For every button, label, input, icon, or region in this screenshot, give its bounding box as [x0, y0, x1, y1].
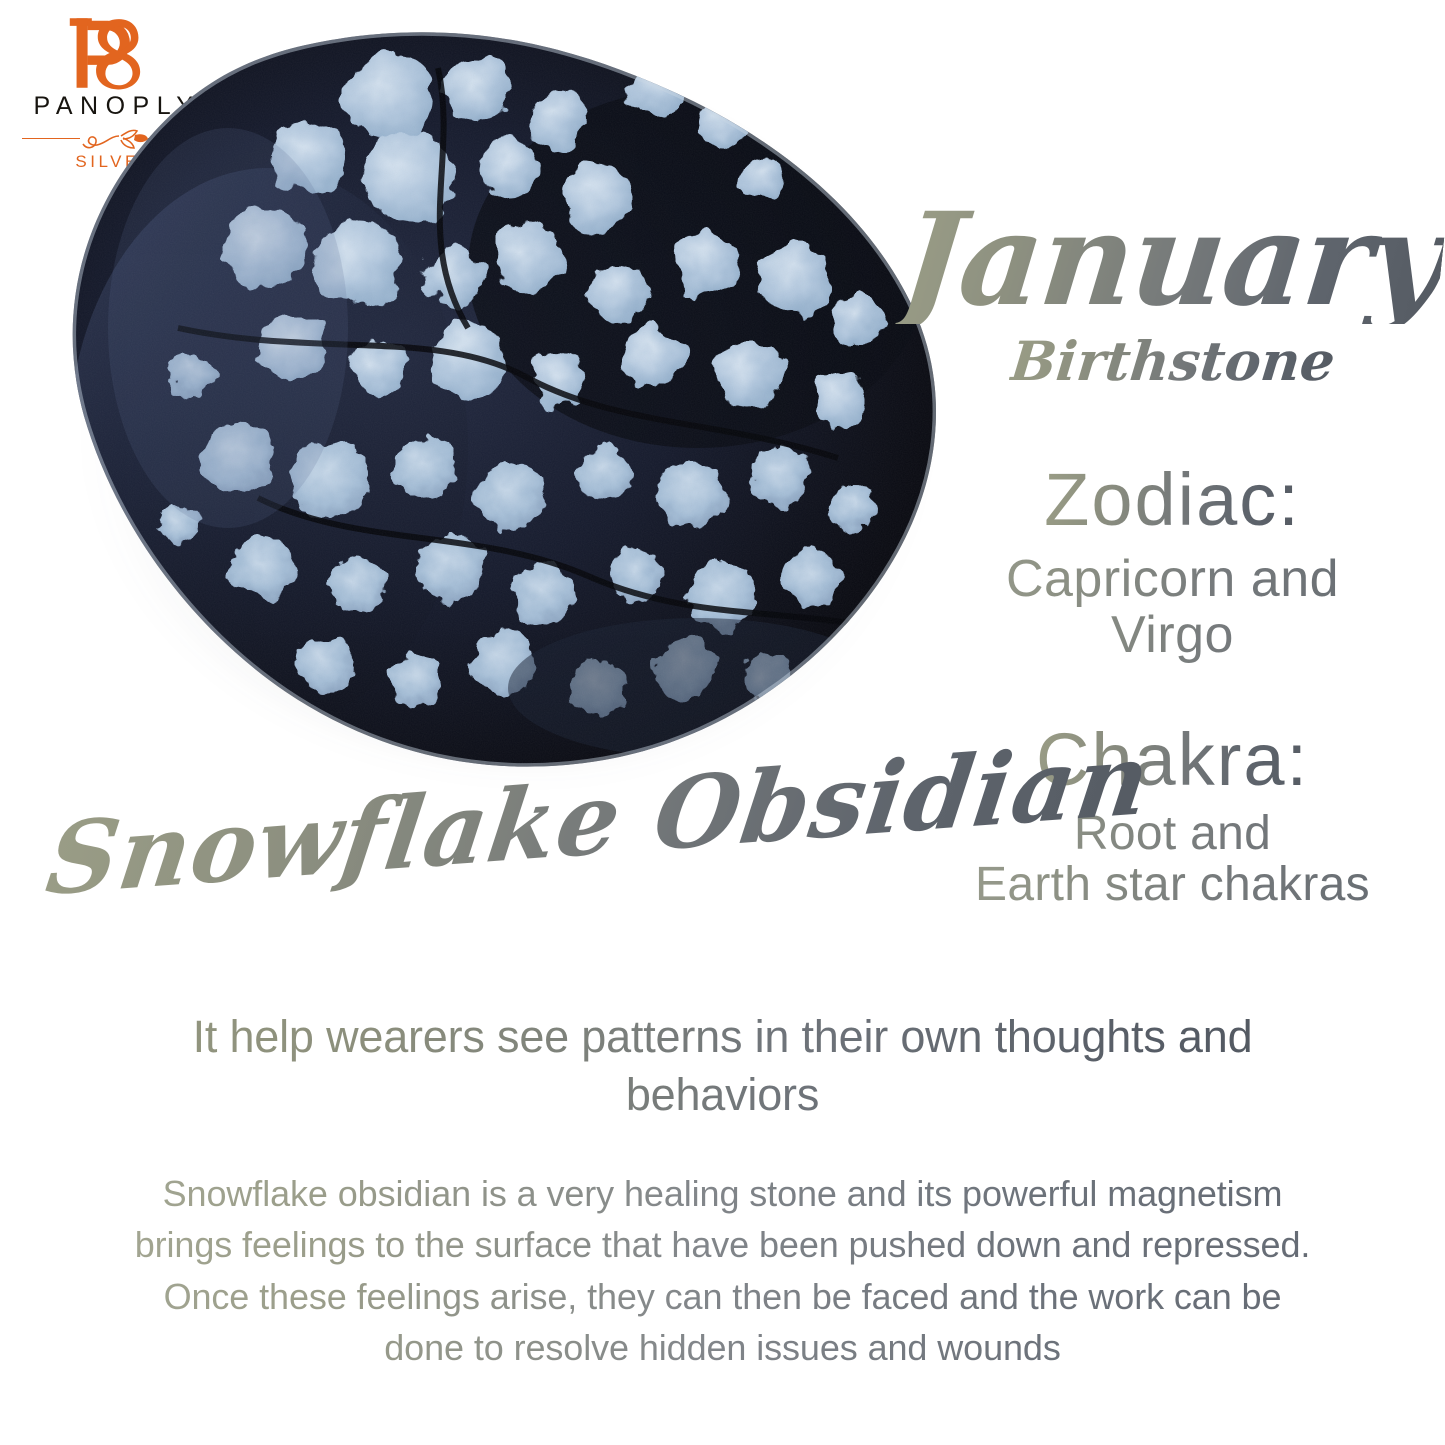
- chakra-value-line-2: Earth star chakras: [900, 859, 1445, 910]
- description-line-4: done to resolve hidden issues and wounds: [60, 1322, 1385, 1373]
- tagline-line-2: behaviors: [70, 1066, 1375, 1124]
- month-heading-text: January: [896, 196, 1445, 324]
- month-heading: January: [900, 196, 1445, 325]
- zodiac-label: Zodiac:: [900, 462, 1445, 537]
- birthstone-subheading-text: Birthstone: [1008, 334, 1337, 388]
- zodiac-value: Capricorn and Virgo: [900, 552, 1445, 663]
- description-line-1: Snowflake obsidian is a very healing sto…: [60, 1168, 1385, 1219]
- zodiac-value-line-1: Capricorn and: [900, 552, 1445, 608]
- product-image: [58, 28, 948, 768]
- zodiac-label-text: Zodiac:: [1044, 462, 1301, 537]
- description-line-2: brings feelings to the surface that have…: [60, 1219, 1385, 1270]
- tagline-line-1: It help wearers see patterns in their ow…: [70, 1008, 1375, 1066]
- birthstone-subheading: Birthstone: [900, 334, 1445, 389]
- birthstone-infographic: PANOPLY SILVER: [0, 0, 1445, 1445]
- tagline: It help wearers see patterns in their ow…: [70, 1008, 1375, 1123]
- stone-name-heading: Snowflake Obsidian: [30, 800, 960, 950]
- description-line-3: Once these feelings arise, they can then…: [60, 1271, 1385, 1322]
- description-paragraph: Snowflake obsidian is a very healing sto…: [60, 1168, 1385, 1374]
- zodiac-value-line-2: Virgo: [900, 608, 1445, 664]
- snowflake-obsidian-illustration: [58, 28, 948, 768]
